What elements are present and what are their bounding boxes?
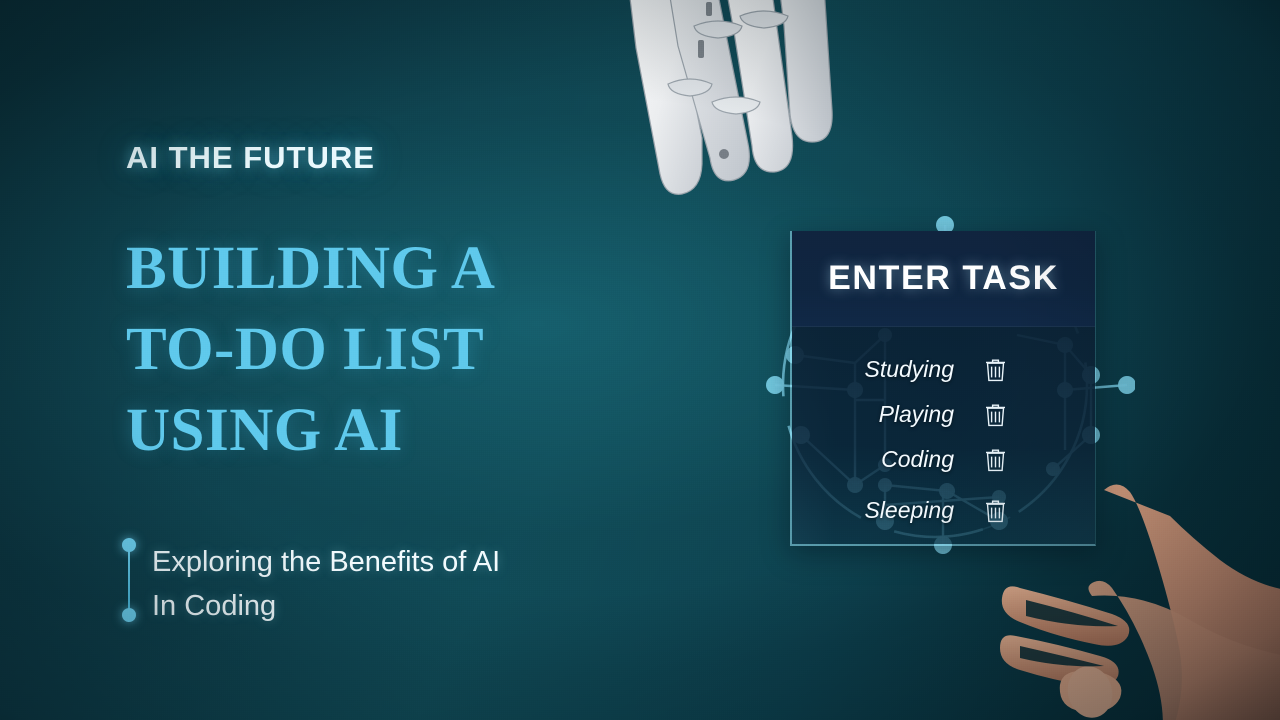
headline-line-3: USING AI bbox=[126, 390, 746, 471]
task-row[interactable]: Sleeping bbox=[792, 488, 1095, 533]
todo-panel-title: ENTER TASK bbox=[828, 259, 1059, 298]
task-row[interactable]: Playing bbox=[792, 392, 1095, 437]
slide-canvas: AI THE FUTURE BUILDING A TO-DO LIST USIN… bbox=[0, 0, 1280, 720]
task-row[interactable]: Studying bbox=[792, 347, 1095, 392]
trash-icon[interactable] bbox=[980, 445, 1010, 475]
task-label: Sleeping bbox=[792, 497, 980, 524]
accent-bar bbox=[128, 546, 130, 614]
accent-divider bbox=[122, 538, 136, 622]
headline-line-2: TO-DO LIST bbox=[126, 309, 746, 390]
subtitle-line-1: Exploring the Benefits of AI bbox=[152, 540, 622, 584]
page-title: BUILDING A TO-DO LIST USING AI bbox=[126, 228, 746, 471]
task-label: Studying bbox=[792, 356, 980, 383]
trash-icon[interactable] bbox=[980, 400, 1010, 430]
trash-icon[interactable] bbox=[980, 355, 1010, 385]
task-row[interactable]: Coding bbox=[792, 437, 1095, 482]
eyebrow-text: AI THE FUTURE bbox=[126, 140, 375, 176]
todo-task-list: Studying Playing bbox=[792, 327, 1095, 544]
todo-panel-header: ENTER TASK bbox=[792, 231, 1095, 327]
subtitle-line-2: In Coding bbox=[152, 584, 622, 628]
accent-dot-top bbox=[122, 538, 136, 552]
subtitle-text: Exploring the Benefits of AI In Coding bbox=[152, 540, 622, 628]
todo-panel: ENTER TASK Studying Playing bbox=[790, 231, 1096, 546]
robot-hand-image bbox=[606, 0, 936, 238]
trash-icon[interactable] bbox=[980, 496, 1010, 526]
task-label: Coding bbox=[792, 446, 980, 473]
task-label: Playing bbox=[792, 401, 980, 428]
accent-dot-bottom bbox=[122, 608, 136, 622]
headline-line-1: BUILDING A bbox=[126, 228, 746, 309]
